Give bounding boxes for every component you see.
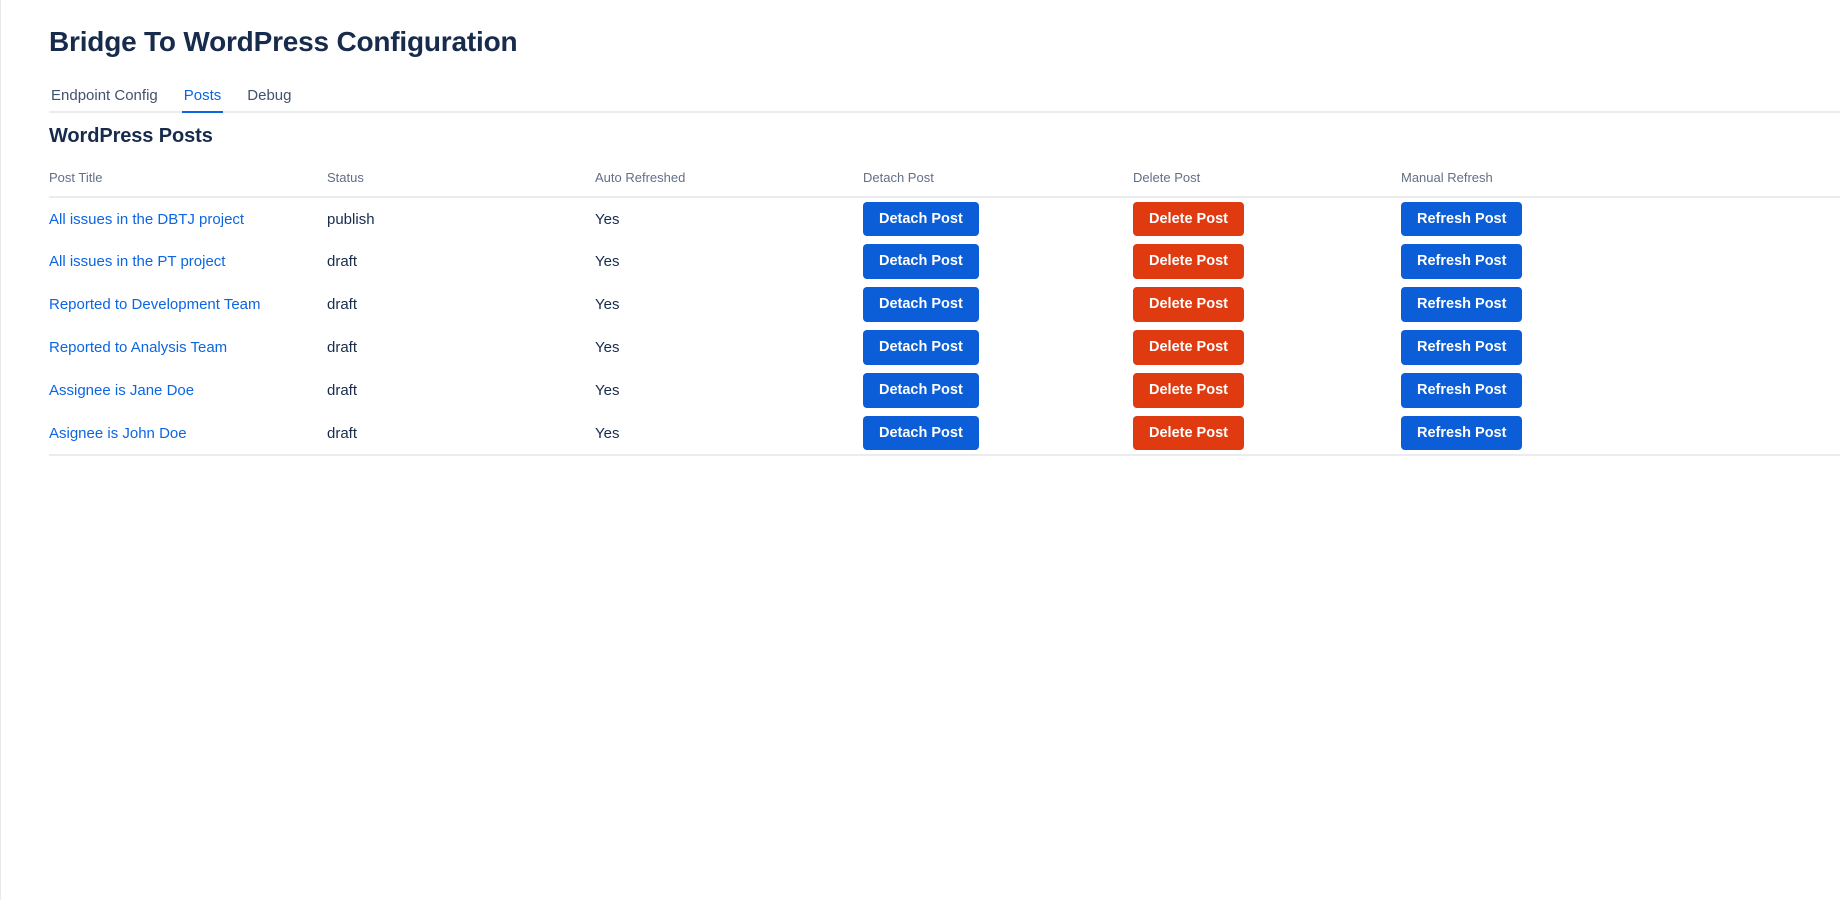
refresh-post-button[interactable]: Refresh Post xyxy=(1401,416,1522,451)
refresh-post-button[interactable]: Refresh Post xyxy=(1401,287,1522,322)
cell-refresh: Refresh Post xyxy=(1401,240,1840,283)
auto-refreshed-value: Yes xyxy=(595,339,619,356)
refresh-post-button[interactable]: Refresh Post xyxy=(1401,202,1522,237)
column-header-auto-refreshed: Auto Refreshed xyxy=(595,170,863,197)
page-title: Bridge To WordPress Configuration xyxy=(49,0,1840,58)
auto-refreshed-value: Yes xyxy=(595,211,619,228)
posts-table: Post Title Status Auto Refreshed Detach … xyxy=(49,170,1840,456)
column-header-post-title: Post Title xyxy=(49,170,327,197)
refresh-post-button[interactable]: Refresh Post xyxy=(1401,330,1522,365)
cell-delete: Delete Post xyxy=(1133,326,1401,369)
status-value: draft xyxy=(327,382,357,399)
refresh-post-button[interactable]: Refresh Post xyxy=(1401,373,1522,408)
cell-post-title: Asignee is John Doe xyxy=(49,412,327,455)
post-title-link[interactable]: Reported to Analysis Team xyxy=(49,339,227,356)
auto-refreshed-value: Yes xyxy=(595,382,619,399)
tab-debug-label: Debug xyxy=(247,87,291,104)
cell-auto-refreshed: Yes xyxy=(595,326,863,369)
cell-detach: Detach Post xyxy=(863,240,1133,283)
cell-delete: Delete Post xyxy=(1133,197,1401,240)
status-value: draft xyxy=(327,253,357,270)
delete-post-button[interactable]: Delete Post xyxy=(1133,287,1244,322)
posts-table-container: Post Title Status Auto Refreshed Detach … xyxy=(49,170,1840,456)
post-title-link[interactable]: All issues in the PT project xyxy=(49,253,225,270)
post-title-link[interactable]: All issues in the DBTJ project xyxy=(49,211,244,228)
status-value: draft xyxy=(327,339,357,356)
posts-table-body: All issues in the DBTJ project publish Y… xyxy=(49,197,1840,455)
cell-refresh: Refresh Post xyxy=(1401,326,1840,369)
post-title-link[interactable]: Asignee is John Doe xyxy=(49,425,187,442)
cell-refresh: Refresh Post xyxy=(1401,412,1840,455)
detach-post-button[interactable]: Detach Post xyxy=(863,202,979,237)
cell-auto-refreshed: Yes xyxy=(595,369,863,412)
detach-post-button[interactable]: Detach Post xyxy=(863,330,979,365)
status-value: publish xyxy=(327,211,375,228)
tab-posts-label: Posts xyxy=(184,87,222,104)
tab-bar: Endpoint Config Posts Debug xyxy=(49,87,1840,113)
delete-post-button[interactable]: Delete Post xyxy=(1133,202,1244,237)
cell-refresh: Refresh Post xyxy=(1401,197,1840,240)
delete-post-button[interactable]: Delete Post xyxy=(1133,244,1244,279)
cell-auto-refreshed: Yes xyxy=(595,283,863,326)
table-row: Reported to Development Team draft Yes D… xyxy=(49,283,1840,326)
cell-auto-refreshed: Yes xyxy=(595,240,863,283)
cell-auto-refreshed: Yes xyxy=(595,197,863,240)
cell-detach: Detach Post xyxy=(863,197,1133,240)
posts-table-head: Post Title Status Auto Refreshed Detach … xyxy=(49,170,1840,197)
cell-delete: Delete Post xyxy=(1133,412,1401,455)
cell-status: draft xyxy=(327,412,595,455)
tab-endpoint-config[interactable]: Endpoint Config xyxy=(49,87,160,113)
table-row: Asignee is John Doe draft Yes Detach Pos… xyxy=(49,412,1840,455)
delete-post-button[interactable]: Delete Post xyxy=(1133,330,1244,365)
cell-status: draft xyxy=(327,283,595,326)
cell-status: publish xyxy=(327,197,595,240)
cell-post-title: All issues in the PT project xyxy=(49,240,327,283)
cell-delete: Delete Post xyxy=(1133,240,1401,283)
detach-post-button[interactable]: Detach Post xyxy=(863,373,979,408)
status-value: draft xyxy=(327,296,357,313)
table-row: Reported to Analysis Team draft Yes Deta… xyxy=(49,326,1840,369)
cell-post-title: Reported to Development Team xyxy=(49,283,327,326)
cell-auto-refreshed: Yes xyxy=(595,412,863,455)
tab-posts[interactable]: Posts xyxy=(182,87,224,113)
tab-debug[interactable]: Debug xyxy=(245,87,293,113)
delete-post-button[interactable]: Delete Post xyxy=(1133,416,1244,451)
post-title-link[interactable]: Reported to Development Team xyxy=(49,296,261,313)
cell-post-title: Assignee is Jane Doe xyxy=(49,369,327,412)
table-row: All issues in the DBTJ project publish Y… xyxy=(49,197,1840,240)
auto-refreshed-value: Yes xyxy=(595,425,619,442)
refresh-post-button[interactable]: Refresh Post xyxy=(1401,244,1522,279)
table-row: Assignee is Jane Doe draft Yes Detach Po… xyxy=(49,369,1840,412)
cell-post-title: Reported to Analysis Team xyxy=(49,326,327,369)
column-header-delete-post: Delete Post xyxy=(1133,170,1401,197)
auto-refreshed-value: Yes xyxy=(595,253,619,270)
cell-status: draft xyxy=(327,369,595,412)
cell-detach: Detach Post xyxy=(863,283,1133,326)
status-value: draft xyxy=(327,425,357,442)
cell-status: draft xyxy=(327,326,595,369)
cell-detach: Detach Post xyxy=(863,412,1133,455)
post-title-link[interactable]: Assignee is Jane Doe xyxy=(49,382,194,399)
tab-endpoint-config-label: Endpoint Config xyxy=(51,87,158,104)
page-root: Bridge To WordPress Configuration Endpoi… xyxy=(1,0,1840,900)
table-row: All issues in the PT project draft Yes D… xyxy=(49,240,1840,283)
column-header-manual-refresh: Manual Refresh xyxy=(1401,170,1840,197)
auto-refreshed-value: Yes xyxy=(595,296,619,313)
cell-post-title: All issues in the DBTJ project xyxy=(49,197,327,240)
cell-status: draft xyxy=(327,240,595,283)
cell-detach: Detach Post xyxy=(863,326,1133,369)
cell-refresh: Refresh Post xyxy=(1401,283,1840,326)
column-header-detach-post: Detach Post xyxy=(863,170,1133,197)
detach-post-button[interactable]: Detach Post xyxy=(863,287,979,322)
cell-refresh: Refresh Post xyxy=(1401,369,1840,412)
delete-post-button[interactable]: Delete Post xyxy=(1133,373,1244,408)
cell-delete: Delete Post xyxy=(1133,369,1401,412)
cell-detach: Detach Post xyxy=(863,369,1133,412)
detach-post-button[interactable]: Detach Post xyxy=(863,416,979,451)
table-header-row: Post Title Status Auto Refreshed Detach … xyxy=(49,170,1840,197)
detach-post-button[interactable]: Detach Post xyxy=(863,244,979,279)
section-title: WordPress Posts xyxy=(49,125,1840,148)
cell-delete: Delete Post xyxy=(1133,283,1401,326)
column-header-status: Status xyxy=(327,170,595,197)
